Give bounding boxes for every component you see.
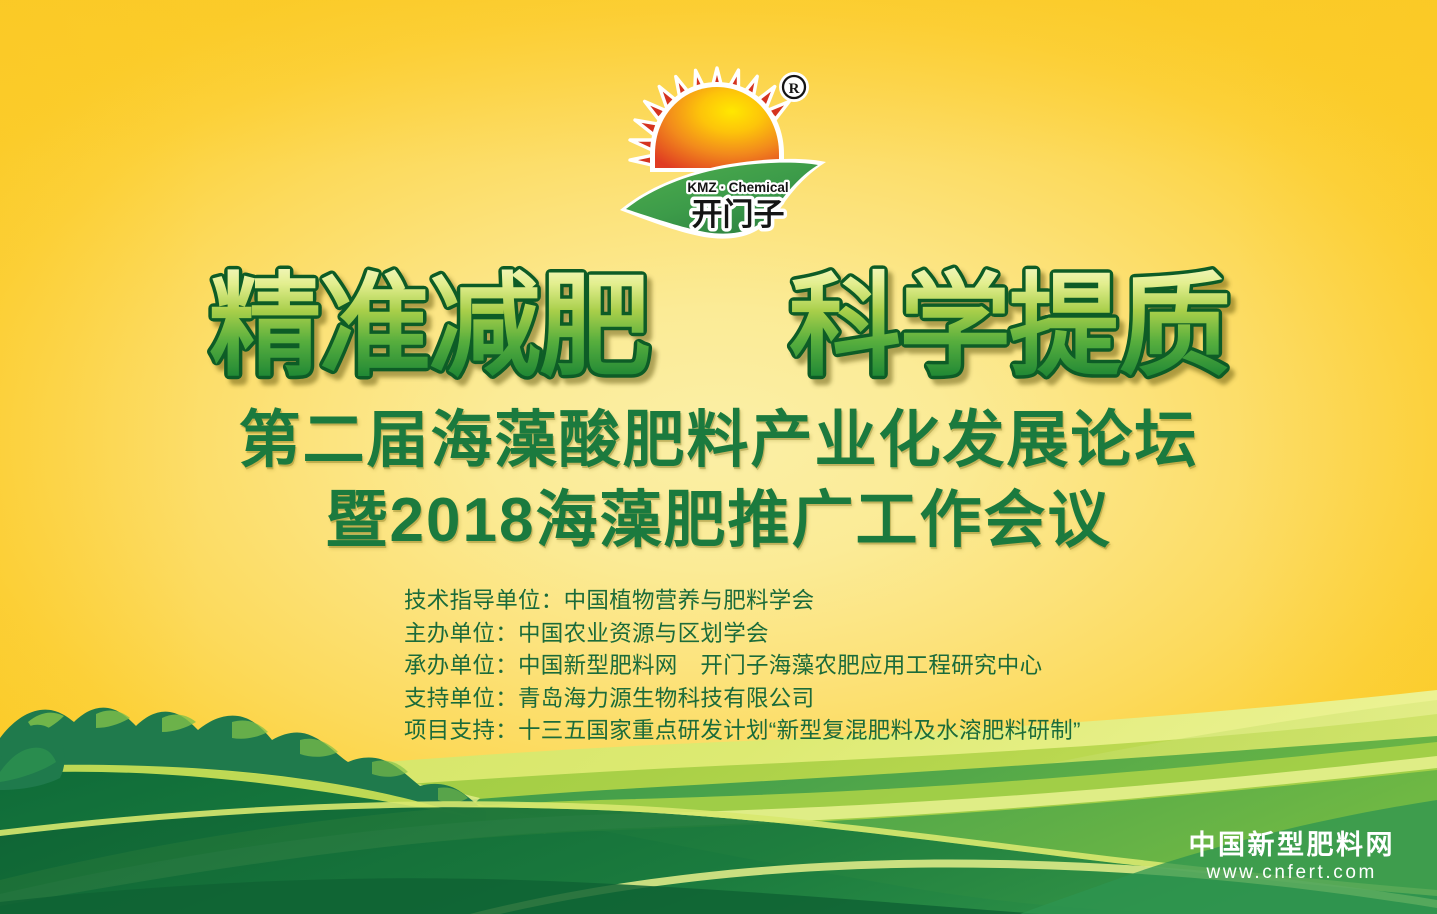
- brand-latin: KMZ · Chemical: [687, 180, 788, 195]
- brand-cn: 开门子: [691, 197, 784, 232]
- registered-mark-icon: R: [779, 72, 809, 102]
- detail-line-supporter: 支持单位：青岛海力源生物科技有限公司: [404, 683, 1164, 716]
- detail-line-project-support: 项目支持：十三五国家重点研发计划“新型复混肥料及水溶肥料研制”: [404, 715, 1164, 748]
- detail-line-organizer: 承办单位：中国新型肥料网 开门子海藻农肥应用工程研究中心: [404, 650, 1164, 683]
- subtitle-line-1: 第二届海藻酸肥料产业化发展论坛: [0, 406, 1437, 476]
- svg-text:R: R: [788, 81, 799, 97]
- headline-graphic: 精准减肥 科学提质: [189, 268, 1249, 390]
- watermark-site-url: www.cnfert.com: [1189, 861, 1396, 884]
- detail-line-host: 主办单位：中国农业资源与区划学会: [404, 618, 1164, 651]
- brand-logo: R KMZ · Chemical KMZ · Chemical 开门子 开门子: [604, 62, 834, 247]
- subtitle-line-2: 暨2018海藻肥推广工作会议: [0, 486, 1437, 556]
- site-watermark: 中国新型肥料网 www.cnfert.com: [1189, 829, 1396, 884]
- brand-lockup: KMZ · Chemical KMZ · Chemical 开门子 开门子: [687, 180, 788, 232]
- headline-part-1: 精准减肥: [209, 264, 649, 389]
- conference-poster: R KMZ · Chemical KMZ · Chemical 开门子 开门子: [0, 0, 1437, 914]
- watermark-site-name: 中国新型肥料网: [1189, 829, 1396, 861]
- headline-part-2: 科学提质: [789, 264, 1229, 389]
- organizer-details: 技术指导单位：中国植物营养与肥料学会 主办单位：中国农业资源与区划学会 承办单位…: [404, 585, 1164, 748]
- detail-line-technical-guidance: 技术指导单位：中国植物营养与肥料学会: [404, 585, 1164, 618]
- logo-graphic: R KMZ · Chemical KMZ · Chemical 开门子 开门子: [604, 62, 834, 247]
- headline: 精准减肥 科学提质: [0, 268, 1437, 390]
